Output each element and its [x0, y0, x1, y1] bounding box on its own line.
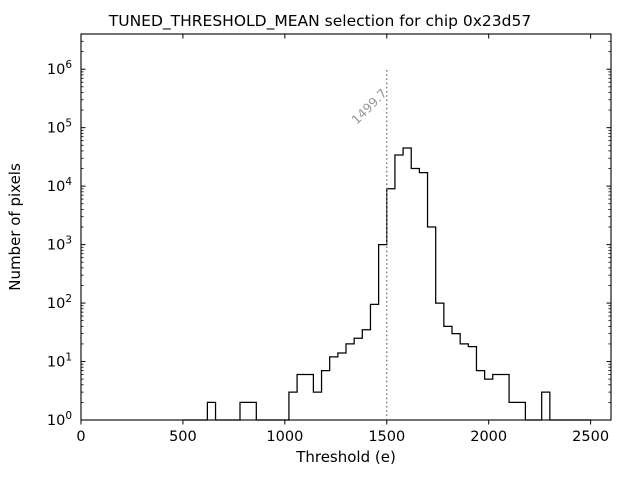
y-tick-label: 106: [47, 59, 72, 78]
x-tick-labels: 05001000150020002500: [76, 429, 609, 445]
y-tick-marks: [81, 34, 611, 420]
chart-title: TUNED_THRESHOLD_MEAN selection for chip …: [108, 12, 531, 31]
x-tick-marks: [81, 34, 591, 425]
x-axis-label: Threshold (e): [295, 448, 396, 466]
y-tick-label: 105: [47, 118, 72, 137]
y-axis-label: Number of pixels: [6, 163, 24, 291]
axes-frame: [81, 34, 611, 420]
x-tick-label: 1500: [368, 429, 405, 445]
y-tick-label: 102: [47, 293, 72, 312]
y-tick-label: 104: [47, 176, 72, 195]
y-tick-label: 100: [47, 410, 72, 429]
histogram-plot[interactable]: 100101102103104105106 050010001500200025…: [0, 0, 640, 480]
x-tick-label: 2000: [470, 429, 507, 445]
mean-threshold-label: 1499.7: [348, 86, 390, 128]
x-tick-label: 2500: [572, 429, 609, 445]
y-tick-label: 103: [47, 235, 72, 254]
x-tick-label: 500: [169, 429, 197, 445]
x-tick-label: 0: [76, 429, 85, 445]
figure-canvas: 100101102103104105106 050010001500200025…: [0, 0, 640, 480]
y-tick-labels: 100101102103104105106: [47, 59, 72, 429]
y-tick-label: 101: [47, 352, 72, 371]
x-tick-label: 1000: [266, 429, 303, 445]
